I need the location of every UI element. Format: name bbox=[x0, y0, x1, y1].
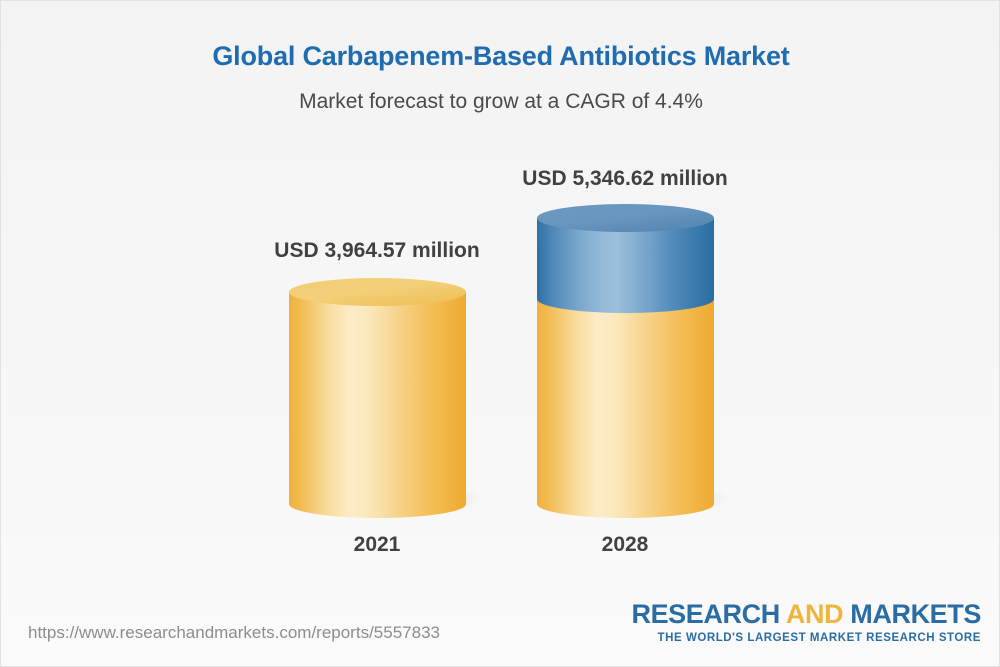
bar-cylinder-2028[interactable] bbox=[537, 204, 714, 518]
bar-cylinder-2021[interactable] bbox=[289, 278, 466, 518]
chart-card: Global Carbapenem-Based Antibiotics Mark… bbox=[0, 0, 1000, 667]
brand-name-and: AND bbox=[786, 599, 843, 629]
brand-name-part3: MARKETS bbox=[843, 599, 981, 629]
plot-area: USD 3,964.57 million USD 5,346.62 millio… bbox=[1, 1, 1000, 601]
bar-cylinder-2028-graphic bbox=[537, 204, 714, 518]
value-label-2028: USD 5,346.62 million bbox=[435, 167, 815, 191]
brand-name-part1: RESEARCH bbox=[631, 599, 785, 629]
category-label-2021: 2021 bbox=[287, 533, 467, 557]
report-url-link[interactable]: https://www.researchandmarkets.com/repor… bbox=[28, 623, 440, 643]
brand-name: RESEARCH AND MARKETS bbox=[631, 601, 981, 628]
brand-logo[interactable]: RESEARCH AND MARKETS THE WORLD'S LARGEST… bbox=[631, 601, 981, 645]
brand-tagline: THE WORLD'S LARGEST MARKET RESEARCH STOR… bbox=[631, 633, 981, 645]
value-label-2021: USD 3,964.57 million bbox=[187, 239, 567, 263]
bar-cylinder-2021-graphic bbox=[289, 278, 466, 518]
category-label-2028: 2028 bbox=[535, 533, 715, 557]
